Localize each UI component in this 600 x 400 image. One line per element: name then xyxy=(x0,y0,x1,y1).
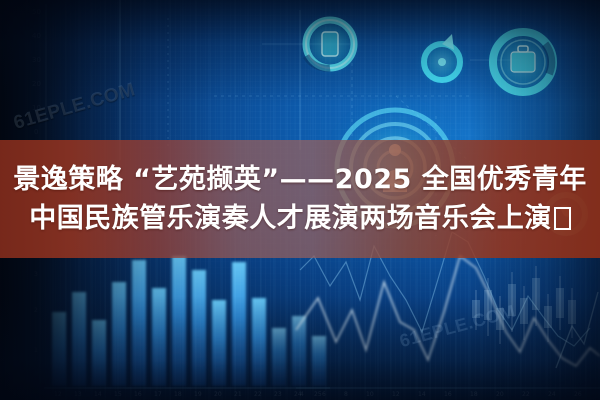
missing-glyph-box-icon xyxy=(554,207,571,230)
title-line-1: 景逸策略 “艺苑撷英”——2025 全国优秀青年 xyxy=(13,161,586,198)
title-line-2-text: 中国民族管乐演奏人才展演两场音乐会上演 xyxy=(29,203,552,234)
title-line-2: 中国民族管乐演奏人才展演两场音乐会上演 xyxy=(29,200,571,237)
screenshot-root: 50 40 30 20 10 0 xyxy=(0,0,600,400)
title-banner: 景逸策略 “艺苑撷英”——2025 全国优秀青年 中国民族管乐演奏人才展演两场音… xyxy=(0,140,600,258)
